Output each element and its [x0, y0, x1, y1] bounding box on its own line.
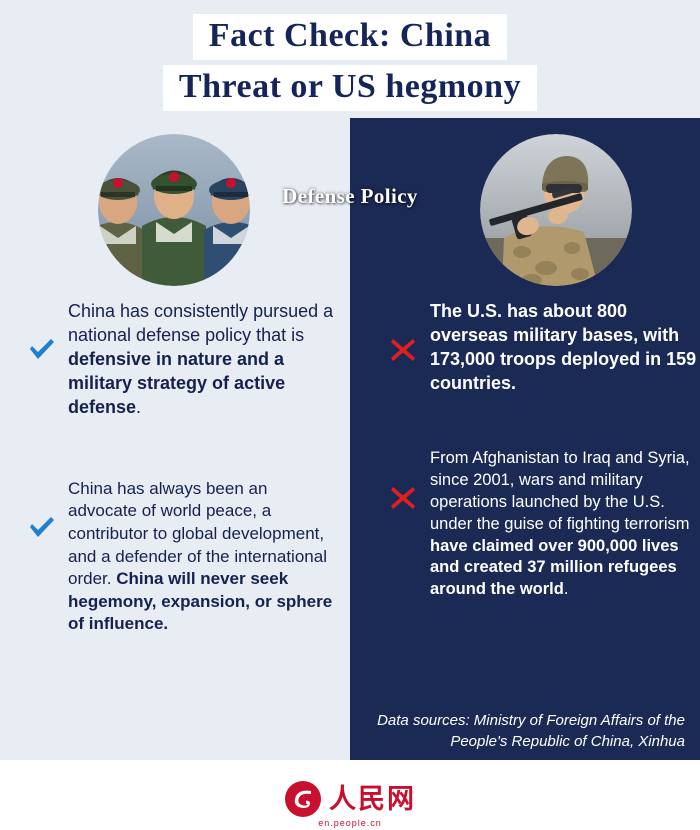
us-soldier-photo	[480, 134, 632, 286]
left-point-2-text: China has always been an advocate of wor…	[68, 478, 338, 636]
right-points-column: The U.S. has about 800 overseas military…	[390, 300, 700, 631]
cross-mark-icon	[390, 300, 430, 362]
section-label-defense-policy: Defense Policy	[250, 184, 450, 209]
chinese-soldiers-photo	[98, 134, 250, 286]
people-logo-url[interactable]: en.people.cn	[0, 818, 700, 828]
left-points-column: China has consistently pursued a nationa…	[28, 300, 338, 666]
check-mark-icon	[28, 478, 68, 540]
people-logo-text: 人民网	[329, 786, 416, 813]
people-logo-icon	[284, 780, 322, 818]
list-item: China has always been an advocate of wor…	[28, 478, 338, 636]
left-point-1-text: China has consistently pursued a nationa…	[68, 300, 338, 420]
list-item: The U.S. has about 800 overseas military…	[390, 300, 700, 396]
title-line-2: Threat or US hegmony	[163, 65, 537, 111]
title-line-1: Fact Check: China	[193, 14, 507, 60]
list-item: From Afghanistan to Iraq and Syria, sinc…	[390, 448, 700, 602]
right-point-2-text: From Afghanistan to Iraq and Syria, sinc…	[430, 448, 700, 602]
check-mark-icon	[28, 300, 68, 362]
page-title: Fact Check: China Threat or US hegmony	[0, 14, 700, 116]
people-cn-logo[interactable]: 人民网	[0, 780, 700, 818]
right-point-1-text: The U.S. has about 800 overseas military…	[430, 300, 700, 396]
cross-mark-icon	[390, 448, 430, 510]
list-item: China has consistently pursued a nationa…	[28, 300, 338, 420]
infographic-root: Fact Check: China Threat or US hegmony	[0, 0, 700, 830]
data-source-note: Data sources: Ministry of Foreign Affair…	[365, 710, 685, 753]
